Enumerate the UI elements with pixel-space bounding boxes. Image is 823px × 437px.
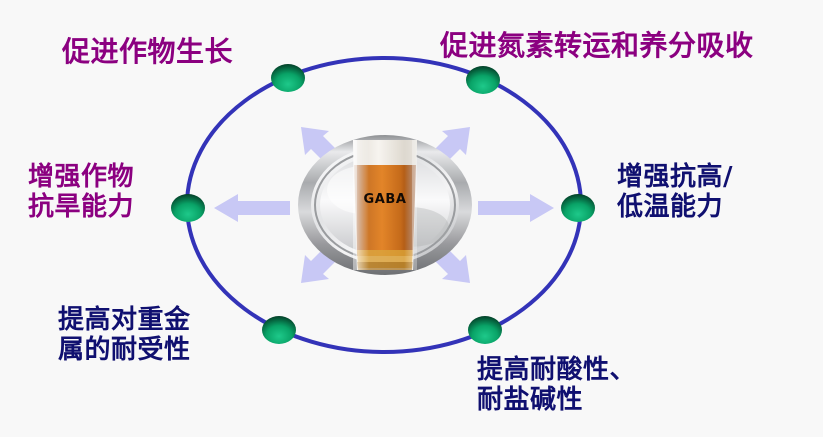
benefit-label-drought-resistance: 增强作物 抗旱能力 — [28, 163, 134, 222]
arrow-right — [478, 194, 554, 222]
node-heavy-metal-tolerance[interactable] — [262, 316, 296, 344]
node-acid-salt-tolerance[interactable] — [468, 316, 502, 344]
arrow-left — [214, 194, 290, 222]
benefit-label-nitrogen-transport: 促进氮素转运和养分吸收 — [440, 30, 754, 62]
benefit-label-acid-salt-tolerance: 提高耐酸性、 耐盐碱性 — [477, 356, 636, 415]
node-crop-growth[interactable] — [271, 64, 305, 92]
node-temperature-resistance[interactable] — [561, 194, 595, 222]
benefit-label-heavy-metal-tolerance: 提高对重金 属的耐受性 — [58, 306, 191, 365]
node-drought-resistance[interactable] — [171, 194, 205, 222]
benefit-label-crop-growth: 促进作物生长 — [62, 36, 233, 68]
node-nitrogen-transport[interactable] — [466, 66, 500, 94]
benefit-label-temperature-resistance: 增强抗高/ 低温能力 — [617, 163, 733, 222]
gaba-label: GABA — [297, 192, 473, 207]
gaba-product-image: GABA — [297, 134, 473, 276]
diagram-canvas: GABA 促进作物生长 促进氮素转运和养分吸收 增强作物 抗旱能力 增强抗高/ … — [0, 0, 823, 437]
